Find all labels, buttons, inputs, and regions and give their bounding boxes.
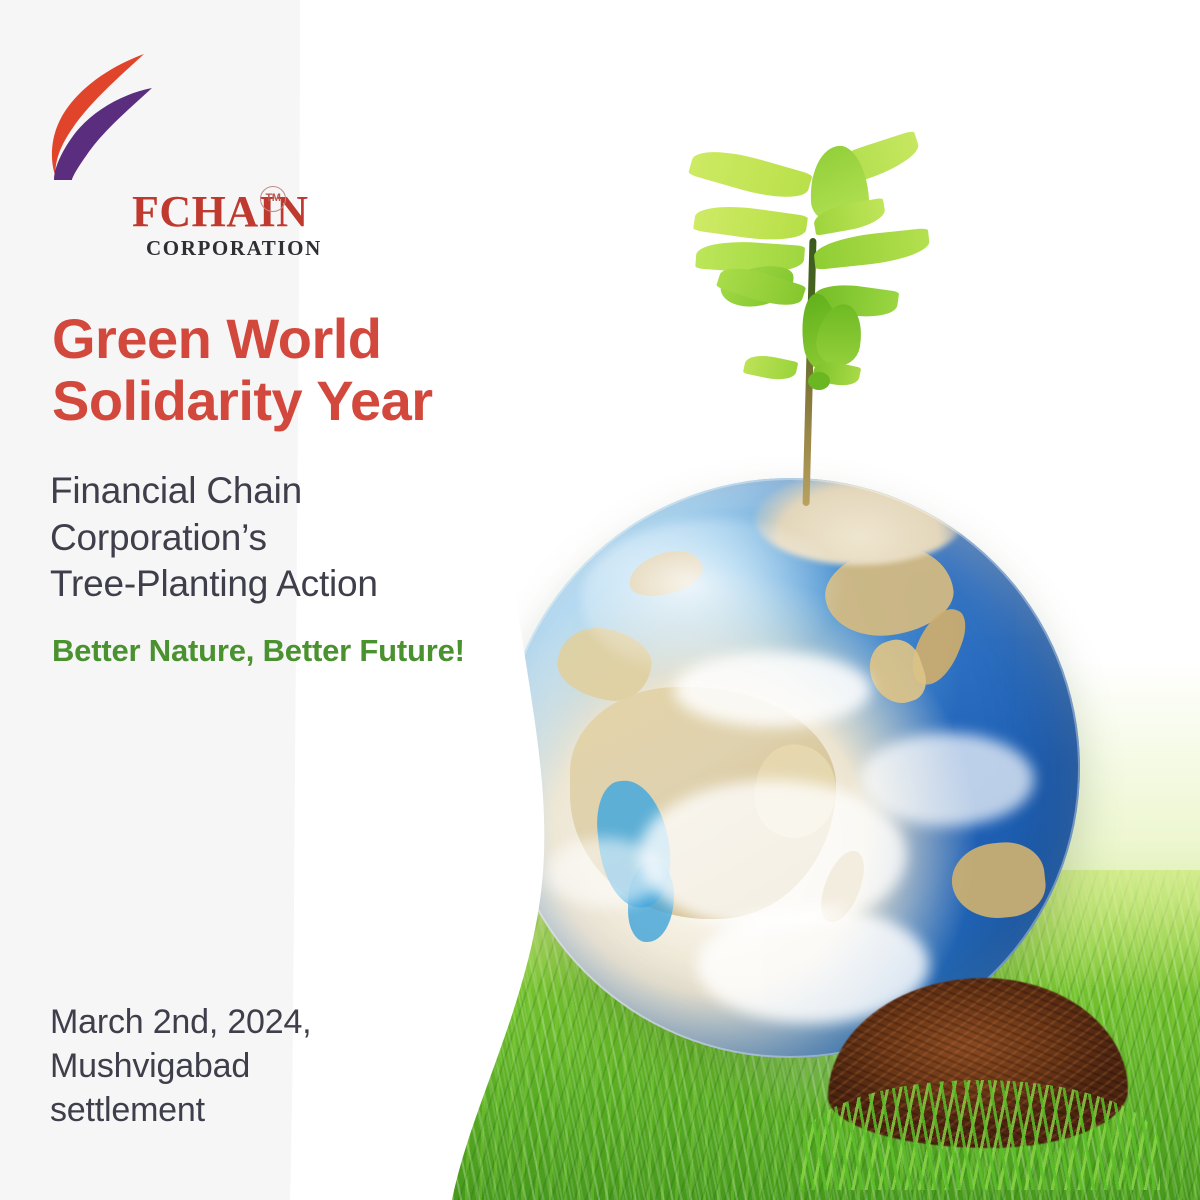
earth-globe <box>500 478 1080 1058</box>
event-details: March 2nd, 2024, Mushvigabad settlement <box>50 1000 450 1133</box>
sapling-leaf-mid-right <box>812 228 931 270</box>
subtitle: Financial Chain Corporation’s Tree-Plant… <box>50 468 520 608</box>
sapling-leaf-base-left <box>743 351 798 383</box>
globe-rim <box>500 478 1080 1058</box>
poster-canvas: FCHAIN TM CORPORATION Green World Solida… <box>0 0 1200 1200</box>
trademark-icon: TM <box>260 186 286 212</box>
tree-sapling <box>690 118 970 508</box>
brand-logo[interactable]: FCHAIN TM CORPORATION <box>46 52 276 222</box>
tagline: Better Nature, Better Future! <box>52 632 532 669</box>
sapling-leaf-upper-left <box>693 201 808 246</box>
globe-sphere <box>500 478 1080 1058</box>
sapling-leaf-top-left <box>688 142 813 208</box>
sapling-leaf-bud <box>808 372 830 390</box>
flame-icon <box>48 52 158 180</box>
logo-sub-wordmark: CORPORATION <box>146 238 322 259</box>
page-title: Green World Solidarity Year <box>52 308 522 431</box>
